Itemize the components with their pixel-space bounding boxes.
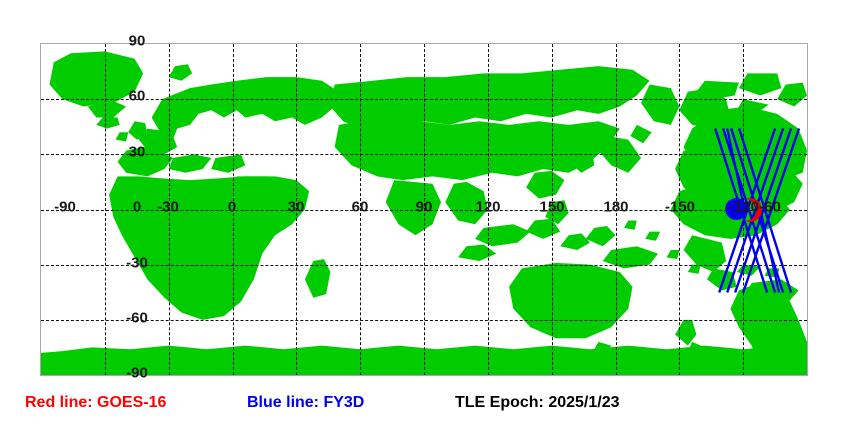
lon-tick-30: 30	[288, 200, 305, 215]
legend-tle-epoch: TLE Epoch: 2025/1/23	[455, 395, 620, 411]
lat-tick--60: -60	[126, 311, 148, 326]
lat-tick-0: 0	[133, 200, 141, 215]
legend: Red line: GOES-16 Blue line: FY3D TLE Ep…	[0, 392, 850, 420]
lon-tick--90: -90	[54, 200, 76, 215]
satellite-ground-track-page: -30 0 30 60 90 120 150 180 -150 -120 -90…	[0, 0, 850, 425]
lon-tick--30: -30	[157, 200, 179, 215]
lat-tick--90: -90	[126, 366, 148, 381]
legend-blue-line: Blue line: FY3D	[247, 395, 364, 411]
lon-tick--120: -120	[729, 200, 759, 215]
lon-tick-150: 150	[539, 200, 564, 215]
legend-red-line: Red line: GOES-16	[25, 395, 166, 411]
lon-tick--60: -60	[759, 200, 781, 215]
lon-tick-0: 0	[228, 200, 236, 215]
lon-tick-120: 120	[475, 200, 500, 215]
lon-tick-90: 90	[416, 200, 433, 215]
lon-tick-60: 60	[352, 200, 369, 215]
lon-tick--150: -150	[665, 200, 695, 215]
lat-tick-60: 60	[129, 89, 146, 104]
lat-tick--30: -30	[126, 256, 148, 271]
lat-tick-90: 90	[129, 34, 146, 49]
lat-tick-30: 30	[129, 145, 146, 160]
lon-tick-180: 180	[603, 200, 628, 215]
